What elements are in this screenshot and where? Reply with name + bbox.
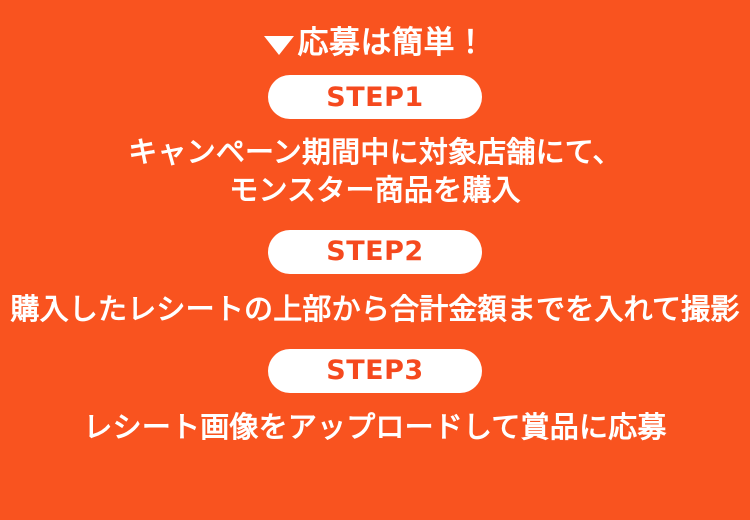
step-badge-3: STEP3 [268, 349, 482, 393]
step-block-3: STEP3 レシート画像をアップロードして賞品に応募 [0, 349, 750, 446]
step-badge-1: STEP1 [268, 75, 482, 119]
step-description-3-line-1: レシート画像をアップロードして賞品に応募 [83, 408, 666, 446]
step-badge-2: STEP2 [268, 230, 482, 274]
step-block-1: STEP1 キャンペーン期間中に対象店舗にて、 モンスター商品を購入 [0, 75, 750, 210]
step-description-1: キャンペーン期間中に対象店舗にて、 モンスター商品を購入 [128, 133, 622, 210]
page-title: 応募は簡単！ [264, 26, 487, 60]
page-title-text: 応募は簡単！ [298, 26, 487, 60]
step-description-3: レシート画像をアップロードして賞品に応募 [83, 408, 666, 446]
step-block-2: STEP2 購入したレシートの上部から合計金額までを入れて撮影 [0, 230, 750, 328]
step-description-1-line-1: キャンペーン期間中に対象店舗にて、 [128, 133, 622, 171]
triangle-down-icon [264, 36, 294, 55]
step-badge-2-label: STEP2 [326, 238, 423, 265]
campaign-steps-panel: 応募は簡単！ STEP1 キャンペーン期間中に対象店舗にて、 モンスター商品を購… [0, 0, 750, 520]
step-description-1-line-2: モンスター商品を購入 [128, 171, 622, 209]
step-badge-3-label: STEP3 [326, 357, 423, 384]
step-description-2-line-1: 購入したレシートの上部から合計金額までを入れて撮影 [10, 290, 739, 328]
step-badge-1-label: STEP1 [326, 84, 423, 111]
step-description-2: 購入したレシートの上部から合計金額までを入れて撮影 [10, 290, 739, 328]
